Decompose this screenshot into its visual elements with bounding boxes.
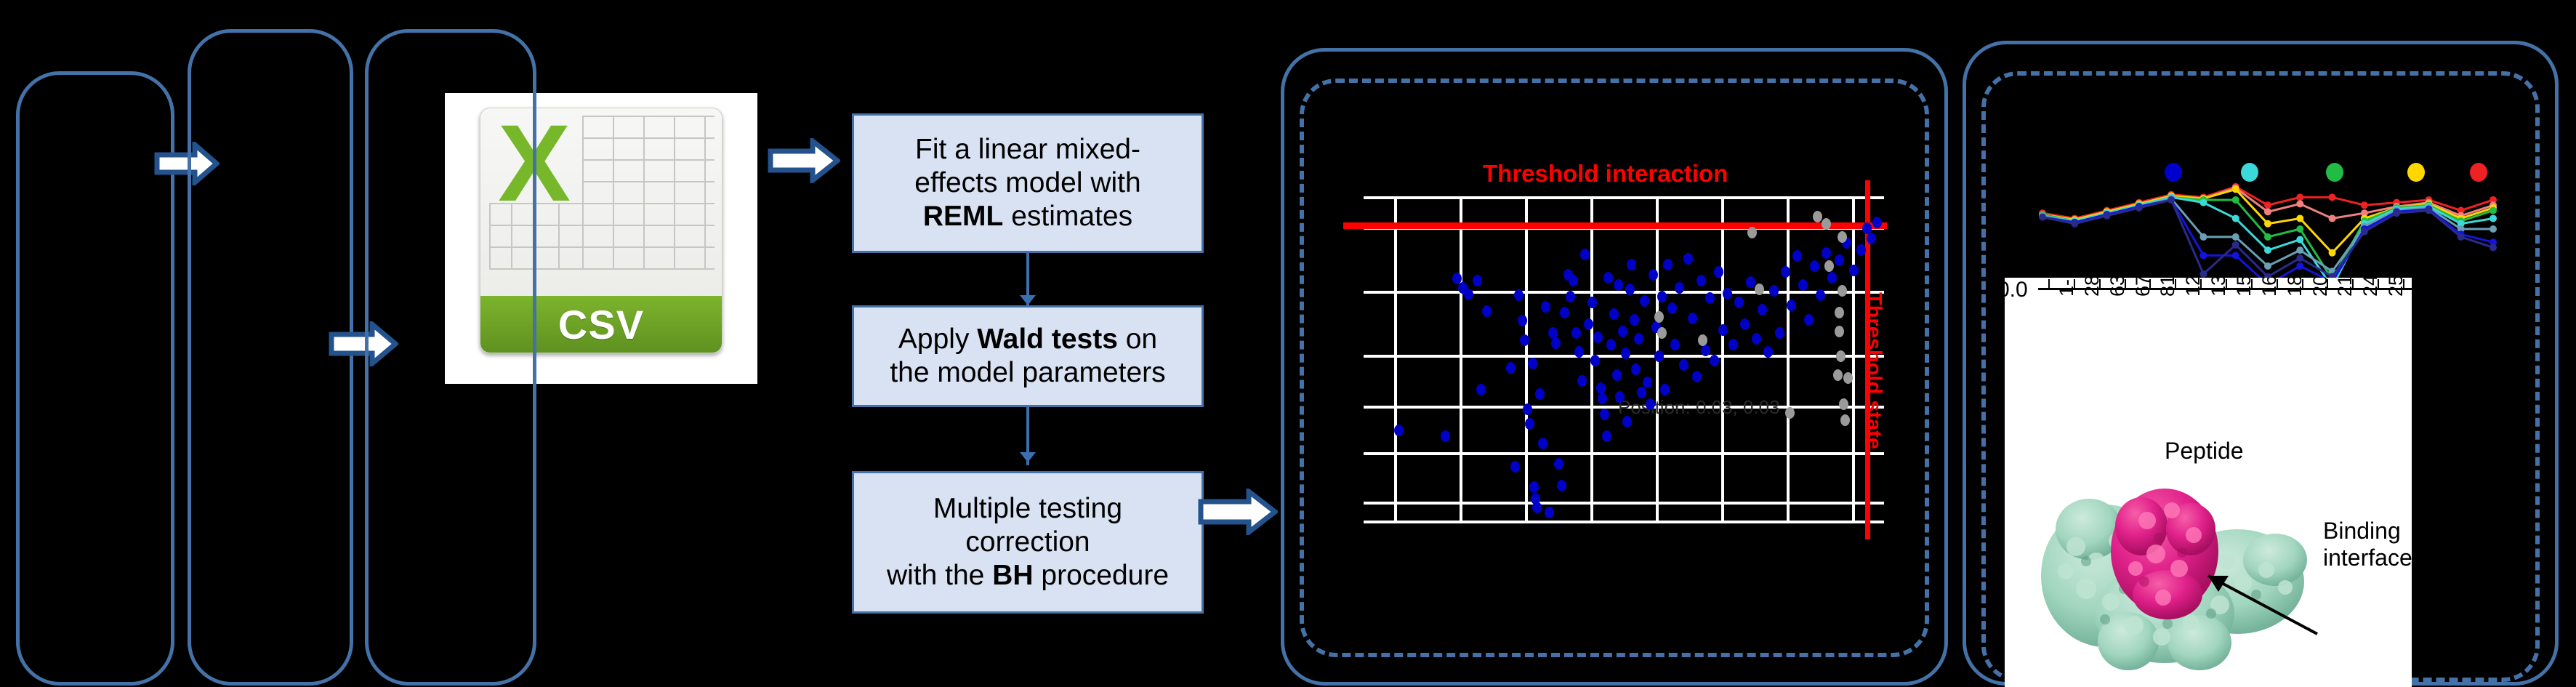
chart-data-point	[2296, 193, 2303, 201]
chart-data-point	[2232, 233, 2239, 241]
x-tick	[2352, 279, 2354, 289]
chart-data-point	[2232, 241, 2239, 249]
panel-input-empty[interactable]	[16, 71, 174, 686]
threshold-interaction-title: Threshold interaction	[1483, 160, 1728, 188]
chart-data-point	[2329, 193, 2336, 201]
x-tick	[2074, 279, 2075, 289]
grid-line-v	[1787, 196, 1790, 523]
series-dot-green	[2326, 163, 2343, 182]
x-tick	[2149, 279, 2151, 289]
chart-data-point	[2232, 214, 2239, 222]
chart-data-point	[2329, 214, 2336, 222]
step-fit-model[interactable]: Fit a linear mixed-effects model withREM…	[852, 113, 1204, 253]
x-tick	[2200, 279, 2202, 289]
chart-data-point	[2296, 225, 2303, 233]
chart-data-point	[2264, 262, 2271, 270]
x-tick-label: 277-284	[2410, 278, 2412, 297]
chart-data-point	[2264, 233, 2271, 241]
chart-data-point	[2264, 246, 2271, 254]
chart-data-point	[2264, 201, 2271, 209]
grid-line-h	[1364, 502, 1884, 505]
grid-line-v	[1852, 196, 1855, 523]
x-tick	[2327, 279, 2328, 289]
threshold-state-label: Threshold state	[1861, 292, 1885, 449]
x-tick	[2251, 279, 2253, 289]
x-tick	[2175, 279, 2176, 289]
chart-data-point	[2199, 199, 2207, 206]
grid-line-h	[1364, 452, 1884, 455]
x-tick	[2277, 279, 2278, 289]
grid-line-v	[1721, 196, 1724, 523]
workflow-diagram: X CSV Fit a linear mixed-effects model w…	[0, 0, 2576, 687]
chart-data-point	[2232, 185, 2239, 193]
chart-data-point	[2296, 214, 2303, 222]
chart-data-point	[2296, 254, 2303, 262]
arrow-to-results	[1198, 489, 1278, 535]
chart-data-point	[2199, 252, 2207, 259]
grid-line-v	[1460, 196, 1462, 523]
chart-data-point	[2232, 196, 2239, 204]
binding-interface-label: Binding interface	[2323, 518, 2412, 571]
panel-statistics[interactable]	[365, 29, 536, 686]
y-tick-0: 0.0	[2005, 278, 2028, 302]
x-tick	[2226, 279, 2227, 289]
chart-data-point	[2199, 233, 2207, 241]
step-fit-model-text: Fit a linear mixed-effects model withREM…	[858, 133, 1197, 233]
chart-data-point	[2458, 233, 2465, 241]
chart-data-point	[2199, 270, 2207, 278]
x-tick	[2403, 279, 2404, 289]
chart-data-point	[2490, 244, 2497, 251]
chart-data-point	[2136, 204, 2143, 212]
chart-data-point	[2361, 228, 2368, 236]
step-multiple-testing[interactable]: Multiple testingcorrectionwith the BH pr…	[852, 471, 1204, 614]
connector-2-arrowhead	[1020, 452, 1036, 462]
grid-line-h	[1364, 196, 1884, 199]
chart-data-point	[2104, 212, 2111, 220]
threshold-interaction-line	[1343, 222, 1887, 229]
grid-line-v	[1525, 196, 1528, 523]
x-tick	[2378, 279, 2379, 289]
chart-data-point	[2071, 220, 2078, 228]
series-dot-cyan	[2241, 163, 2258, 182]
chart-data-point	[2490, 214, 2497, 222]
series-dot-yellow	[2407, 163, 2425, 182]
connector-1-arrowhead	[1020, 295, 1036, 305]
chart-data-point	[2490, 207, 2497, 214]
chart-data-point	[2393, 209, 2400, 217]
step-wald-tests[interactable]: Apply Wald tests onthe model parameters	[852, 305, 1204, 407]
chart-data-point	[2296, 200, 2303, 207]
chart-data-point	[2264, 208, 2271, 215]
x-tick	[2302, 279, 2303, 289]
x-tick	[2099, 279, 2101, 289]
grid-line-h	[1364, 291, 1884, 294]
chart-data-point	[2296, 246, 2303, 254]
chart-data-point	[2361, 201, 2368, 209]
chart-data-point	[2490, 225, 2497, 233]
chart-data-point	[2296, 262, 2303, 270]
grid-line-v	[1394, 196, 1397, 523]
threshold-scatter-plot: Position: 0.03, 0.03	[1364, 196, 1884, 523]
x-tick	[2125, 279, 2126, 289]
plot-faint-note: Position: 0.03, 0.03	[1618, 396, 1780, 419]
series-dot-red	[2470, 163, 2487, 182]
chart-data-point	[2039, 214, 2046, 221]
structure-figure-card: 0.0 1-1528-4463-7367-7581-101122-129135-…	[2005, 278, 2412, 687]
step-multiple-testing-text: Multiple testingcorrectionwith the BH pr…	[858, 492, 1197, 592]
grid-line-h	[1364, 521, 1884, 523]
protein-structure-render	[2019, 459, 2325, 678]
x-tick	[2048, 279, 2050, 289]
step-wald-tests-text: Apply Wald tests onthe model parameters	[858, 323, 1197, 390]
chart-data-point	[2264, 220, 2271, 228]
series-dot-darkblue	[2165, 163, 2182, 182]
chart-data-point	[2329, 249, 2336, 257]
arrow-to-model	[768, 138, 840, 183]
chart-data-point	[2232, 252, 2239, 259]
chart-data-point	[2168, 196, 2175, 204]
chart-data-point	[2296, 236, 2303, 244]
chart-data-point	[2425, 207, 2432, 214]
